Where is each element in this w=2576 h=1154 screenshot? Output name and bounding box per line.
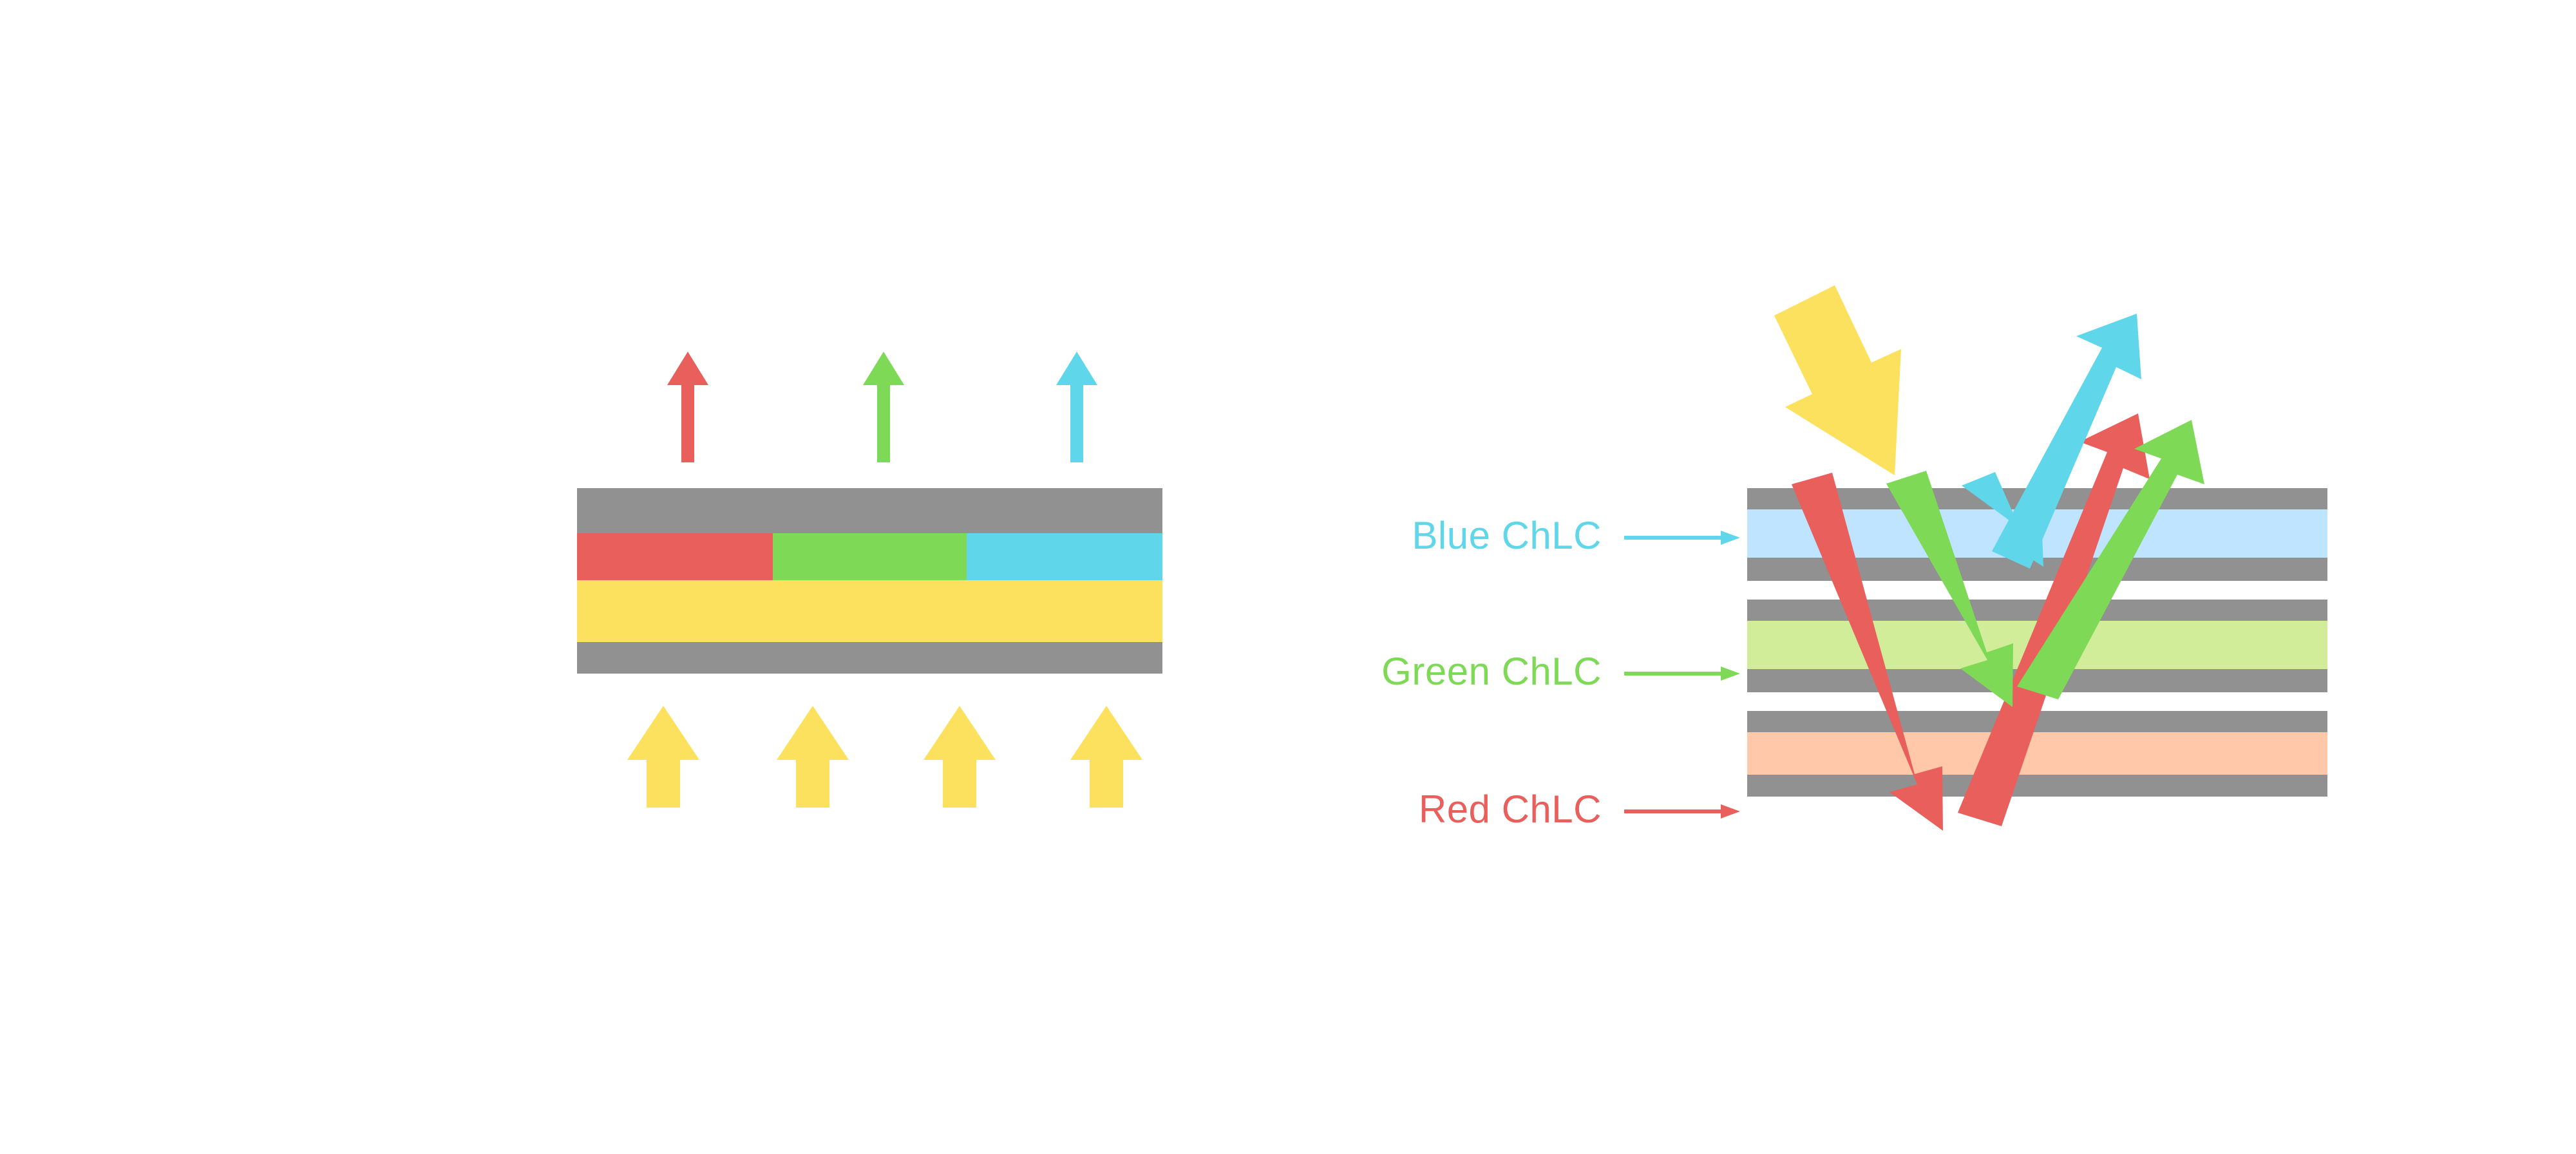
red-bottom-electrode [1747, 775, 2327, 797]
red-emission-arrow [667, 352, 708, 462]
backlight-layer [577, 580, 1162, 642]
blue-chlc-label: Blue ChLC [1412, 514, 1602, 557]
red-chlc-label: Red ChLC [1419, 788, 1602, 831]
diagram-canvas: Blue ChLC Green ChLC Red ChLC [0, 0, 2576, 1154]
green-emission-arrow [863, 352, 904, 462]
left-stack-group [577, 488, 1162, 674]
left-bottom-electrode [577, 642, 1162, 674]
right-panel-group: Blue ChLC Green ChLC Red ChLC [1381, 285, 2327, 831]
green-chlc-label-group: Green ChLC [1381, 650, 1740, 693]
blue-chlc-label-group: Blue ChLC [1412, 514, 1740, 557]
red-chlc-layer [1747, 732, 2327, 775]
blue-filter-segment [967, 533, 1162, 580]
green-top-electrode [1747, 600, 2327, 621]
blue-emission-arrow [1056, 352, 1097, 462]
red-filter-segment [577, 533, 773, 580]
backlight-arrow-1 [627, 706, 699, 808]
green-filter-segment [773, 533, 967, 580]
chlc-labels-group: Blue ChLC Green ChLC Red ChLC [1381, 514, 1740, 831]
backlight-arrows-group [627, 706, 1142, 808]
left-panel-group [577, 352, 1162, 808]
green-chlc-pointer-arrow-icon [1624, 667, 1740, 681]
left-top-electrode [577, 488, 1162, 533]
red-chlc-label-group: Red ChLC [1419, 788, 1740, 831]
green-chlc-label: Green ChLC [1381, 650, 1602, 693]
incident-white-light-arrow [1774, 285, 1901, 475]
backlight-arrow-2 [777, 706, 849, 808]
diagram-svg: Blue ChLC Green ChLC Red ChLC [0, 0, 2576, 1154]
emitted-arrows-group [667, 352, 1097, 462]
backlight-arrow-4 [1070, 706, 1142, 808]
red-chlc-pointer-arrow-icon [1624, 804, 1740, 818]
backlight-arrow-3 [923, 706, 996, 808]
blue-chlc-pointer-arrow-icon [1624, 531, 1740, 545]
